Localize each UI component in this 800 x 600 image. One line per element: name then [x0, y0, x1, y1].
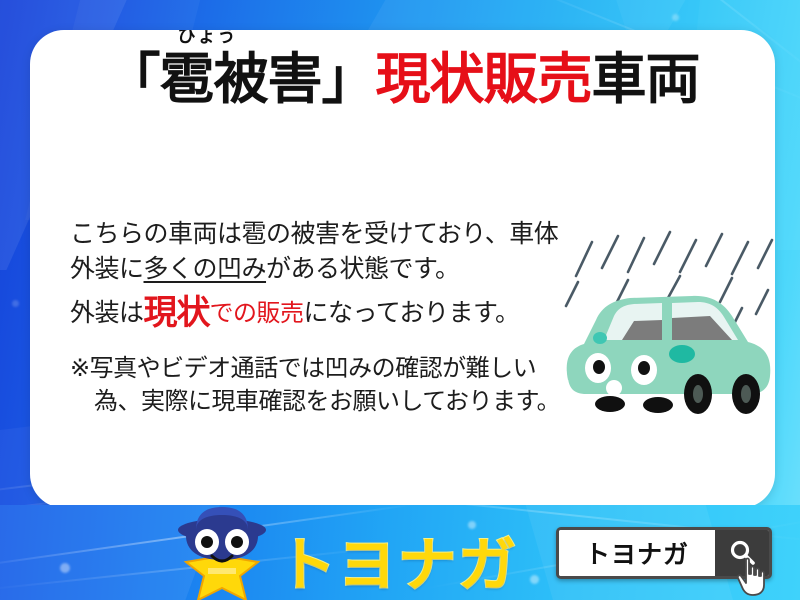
p1-line2-underlined: 多くの凹み — [144, 254, 267, 283]
brand-logo-text: トヨナガ — [278, 536, 518, 594]
title-segment-black-open: 「雹被害」 — [105, 47, 375, 111]
title-segment-black-end: 車両 — [592, 47, 700, 111]
bottom-banner: トヨナガ トヨナガ — [0, 505, 800, 600]
hail-damaged-car-illustration — [558, 228, 775, 428]
body-text-block: こちらの車両は雹の被害を受けており、車体 外装に多くの凹みがある状態です。 外装… — [70, 216, 580, 418]
star-mascot-icon — [166, 506, 278, 600]
title-segment-red: 現状販売 — [375, 47, 591, 111]
p3-line1: ※写真やビデオ通話では凹みの確認が難しい — [70, 354, 536, 382]
p2-post: になっております。 — [304, 298, 520, 327]
p1-line1: こちらの車両は雹の被害を受けており、車体 — [70, 219, 558, 248]
paragraph-3: ※写真やビデオ通話では凹みの確認が難しい 為、実際に現車確認をお願いしております… — [70, 352, 580, 418]
poster-canvas: ひょう「雹被害」現状販売車両 こちらの車両は雹の被害を受けており、車体 外装に多… — [0, 0, 800, 600]
hand-pointer-icon — [735, 557, 769, 597]
title-block: ひょう「雹被害」現状販売車両 — [30, 52, 775, 107]
p2-red-large: 現状 — [144, 293, 210, 333]
p2-red-small: での販売 — [210, 299, 304, 327]
furigana-hyou: ひょう — [177, 30, 237, 46]
page-title: ひょう「雹被害」現状販売車両 — [105, 52, 699, 107]
p3-line2: 為、実際に現車確認をお願いしております。 — [70, 385, 580, 418]
p1-line2-post: がある状態です。 — [266, 254, 460, 283]
p2-pre: 外装は — [70, 298, 144, 327]
search-input[interactable]: トヨナガ — [559, 530, 715, 576]
paragraph-2: 外装は現状での販売になっております。 — [70, 296, 580, 330]
p1-line2-pre: 外装に — [70, 254, 144, 283]
paragraph-1: こちらの車両は雹の被害を受けており、車体 外装に多くの凹みがある状態です。 — [70, 216, 580, 286]
info-card: ひょう「雹被害」現状販売車両 こちらの車両は雹の被害を受けており、車体 外装に多… — [30, 30, 775, 508]
